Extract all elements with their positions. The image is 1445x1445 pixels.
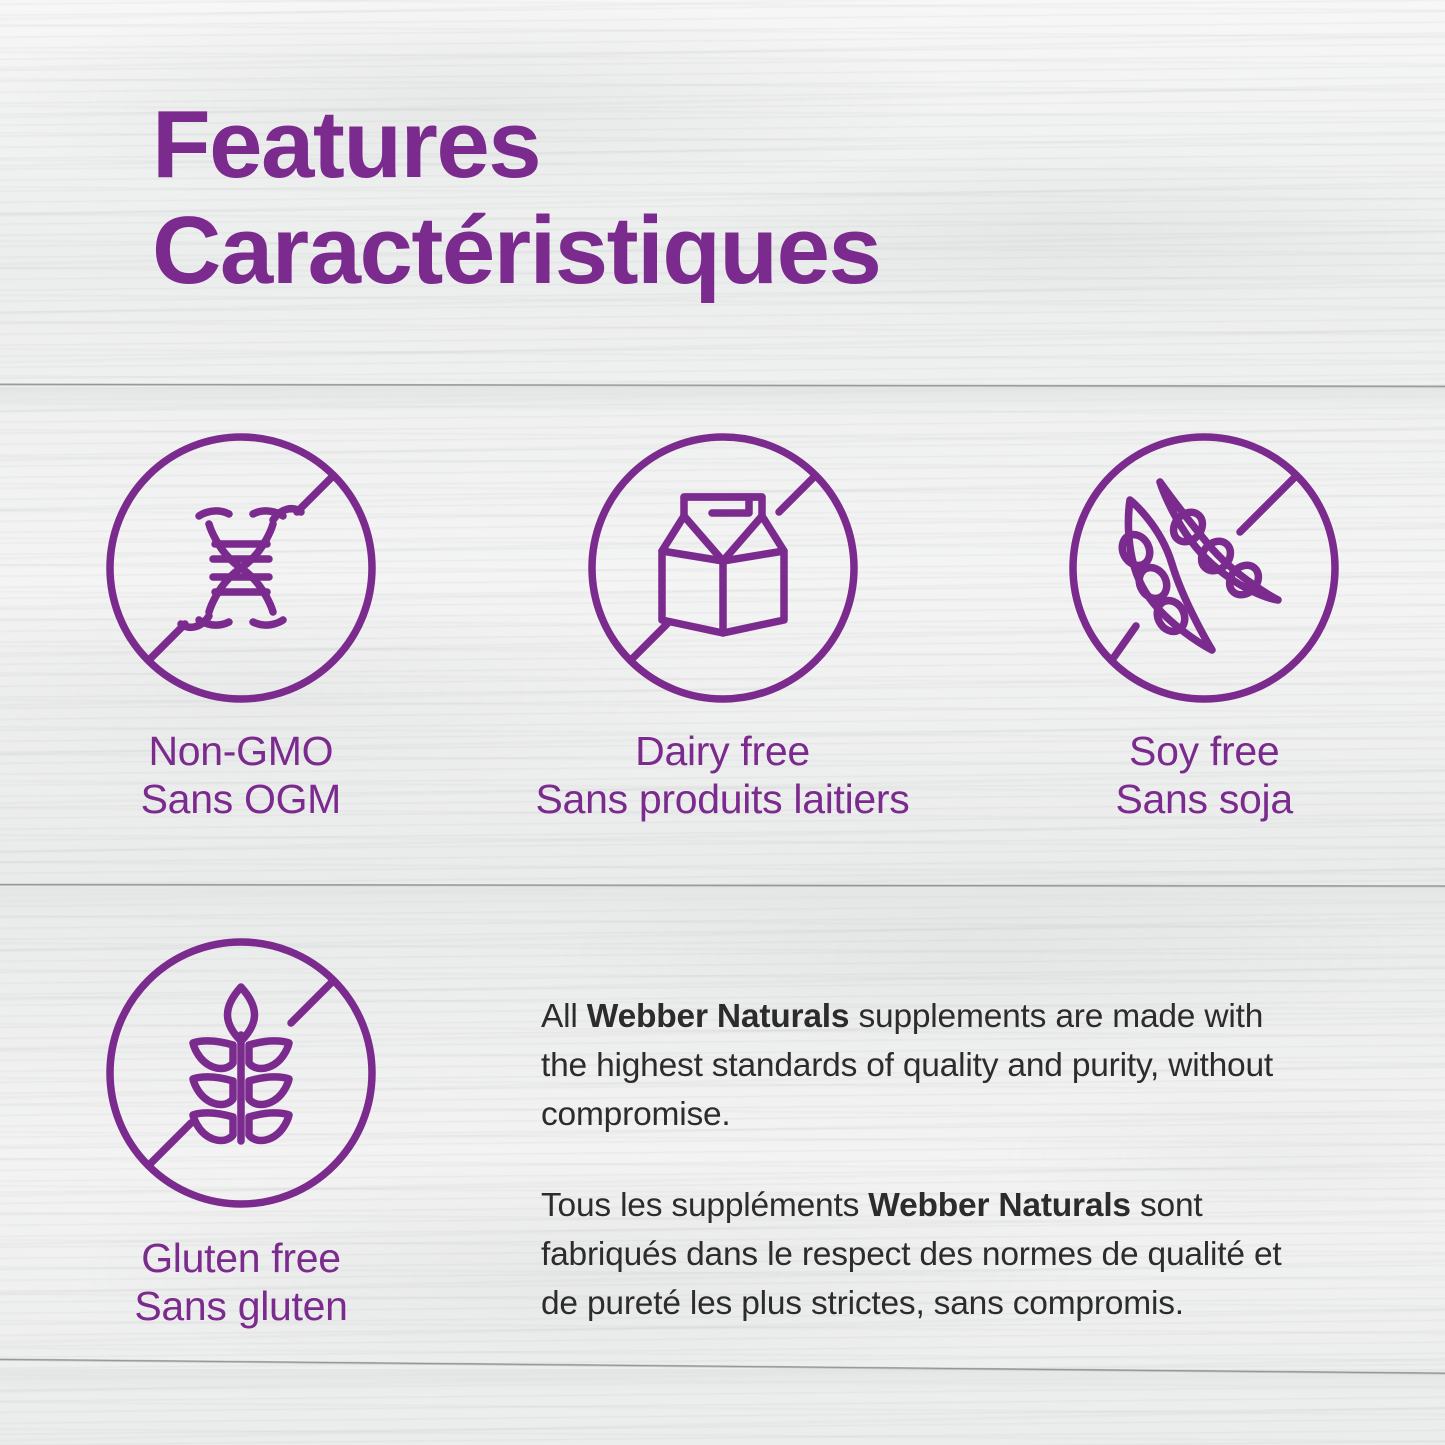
feature-label-en: Non-GMO bbox=[141, 728, 341, 776]
paragraph-fr-before-brand: Tous les suppléments bbox=[541, 1187, 868, 1224]
feature-label-en: Dairy free bbox=[536, 728, 910, 776]
no-gluten-wheat-icon bbox=[101, 933, 381, 1213]
page-title-french: Caractéristiques bbox=[152, 202, 1332, 300]
body-copy: All Webber Naturals supplements are made… bbox=[541, 993, 1316, 1328]
feature-row-top: Non-GMO Sans OGM bbox=[0, 428, 1445, 848]
brand-name-fr: Webber Naturals bbox=[868, 1187, 1131, 1224]
feature-row-bottom: Gluten free Sans gluten All Webber Natur… bbox=[0, 933, 1445, 1363]
feature-label-gluten-free: Gluten free Sans gluten bbox=[134, 1235, 347, 1331]
feature-label-en: Gluten free bbox=[134, 1235, 347, 1283]
feature-label-dairy-free: Dairy free Sans produits laitiers bbox=[536, 728, 910, 824]
feature-label-fr: Sans gluten bbox=[134, 1283, 347, 1331]
feature-label-soy-free: Soy free Sans soja bbox=[1116, 728, 1293, 824]
feature-label-fr: Sans soja bbox=[1116, 776, 1293, 824]
feature-label-en: Soy free bbox=[1116, 728, 1293, 776]
feature-non-gmo: Non-GMO Sans OGM bbox=[0, 428, 482, 848]
no-dairy-milk-carton-icon bbox=[583, 428, 863, 708]
paragraph-en-before-brand: All bbox=[541, 998, 587, 1035]
features-panel: Features Caractéristiques bbox=[0, 0, 1445, 1445]
feature-label-non-gmo: Non-GMO Sans OGM bbox=[141, 728, 341, 824]
body-paragraph-english: All Webber Naturals supplements are made… bbox=[541, 993, 1316, 1140]
page-title-english: Features bbox=[152, 96, 1332, 194]
feature-label-fr: Sans produits laitiers bbox=[536, 776, 910, 824]
feature-soy-free: Soy free Sans soja bbox=[963, 428, 1445, 848]
brand-name-en: Webber Naturals bbox=[587, 998, 850, 1035]
feature-dairy-free: Dairy free Sans produits laitiers bbox=[482, 428, 964, 848]
body-paragraph-french: Tous les suppléments Webber Naturals son… bbox=[541, 1182, 1316, 1329]
feature-label-fr: Sans OGM bbox=[141, 776, 341, 824]
page-title: Features Caractéristiques bbox=[152, 96, 1332, 300]
no-gmo-dna-icon bbox=[101, 428, 381, 708]
no-soy-beans-icon bbox=[1064, 428, 1344, 708]
feature-gluten-free: Gluten free Sans gluten bbox=[0, 933, 482, 1331]
